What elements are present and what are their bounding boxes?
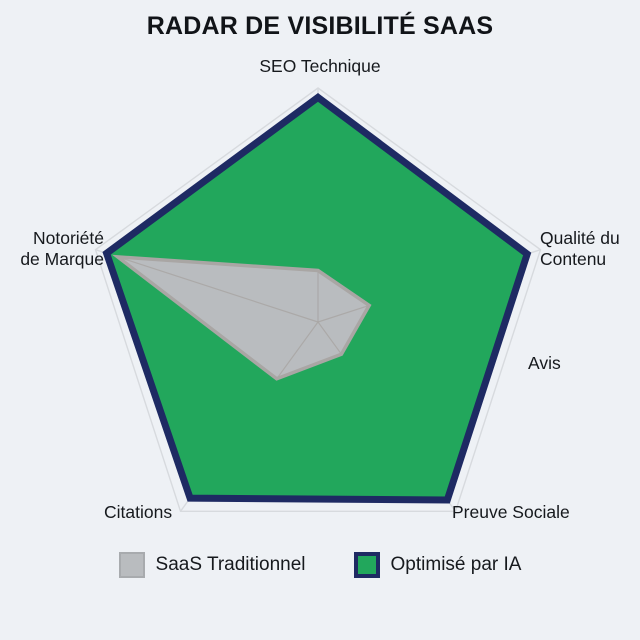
legend-item-optimise-par-ia[interactable]: Optimisé par IA bbox=[354, 552, 522, 578]
radar-chart: RADAR DE VISIBILITÉ SAAS SEO Technique Q… bbox=[0, 0, 640, 640]
radar-plot-area bbox=[0, 0, 640, 640]
legend-swatch-icon-optimise-par-ia bbox=[354, 552, 380, 578]
axis-label-preuve-sociale: Preuve Sociale bbox=[452, 502, 640, 523]
chart-legend: SaaS Traditionnel Optimisé par IA bbox=[0, 552, 640, 578]
axis-label-qualite-du-contenu: Qualité du Contenu bbox=[540, 228, 640, 269]
legend-swatch-icon-saas-traditionnel bbox=[119, 552, 145, 578]
legend-label-optimise-par-ia: Optimisé par IA bbox=[391, 554, 522, 576]
axis-label-seo-technique: SEO Technique bbox=[0, 56, 640, 77]
legend-item-saas-traditionnel[interactable]: SaaS Traditionnel bbox=[119, 552, 306, 578]
axis-label-notoriete-de-marque: Notoriété de Marque bbox=[0, 228, 104, 269]
legend-label-saas-traditionnel: SaaS Traditionnel bbox=[156, 554, 306, 576]
axis-label-avis: Avis bbox=[528, 353, 628, 374]
axis-label-citations: Citations bbox=[104, 502, 294, 523]
